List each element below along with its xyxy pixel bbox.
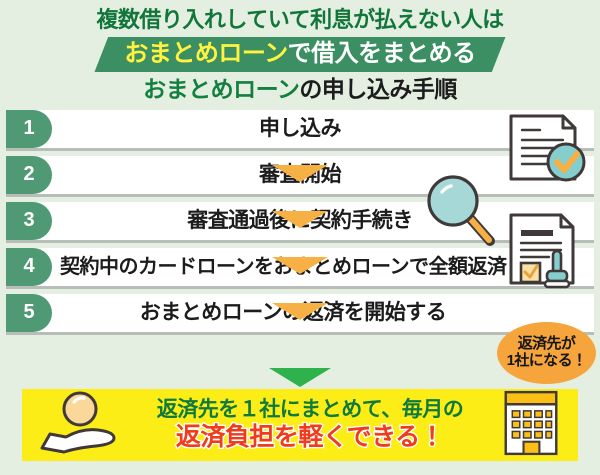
header-line-3-highlight: おまとめローン [143,76,299,102]
banner-text: 返済先を１社にまとめて、毎月の 返済負担を軽くできる！ [122,398,502,452]
step-badge-4: 4 [6,248,52,286]
header-ribbon: おまとめローンで借入をまとめる [94,37,505,73]
arrow-down-icon-5 [269,368,331,387]
summary-banner: 返済先を１社にまとめて、毎月の 返済負担を軽くできる！ [22,389,578,461]
building-icon [502,389,578,462]
header-line-1: 複数借り入れしていて利息が払えない人は [0,6,600,34]
document-check-icon [505,113,587,191]
step-badge-3: 3 [6,202,52,240]
callout-line-2: 1社になる！ [507,353,587,370]
step-badge-2: 2 [6,156,52,194]
callout-badge: 返済先が 1社になる！ [497,322,596,384]
header-line-3-rest: の申し込み手順 [299,76,457,102]
banner-line-1: 返済先を１社にまとめて、毎月の [128,398,492,422]
magnifier-icon [424,172,502,250]
step-badge-1: 1 [6,110,52,148]
ribbon-highlight-text: おまとめローン [124,40,287,67]
header: 複数借り入れしていて利息が払えない人は おまとめローンで借入をまとめる おまとめ… [0,0,600,104]
arrow-down-icon-4 [272,303,328,320]
arrow-down-icon-3 [272,257,328,274]
ribbon-rest-text: で借入をまとめる [288,40,476,67]
document-stamp-icon [505,211,587,291]
callout-line-1: 返済先が [518,336,576,353]
hand-coin-icon [22,390,122,461]
arrow-down-icon-2 [272,211,328,228]
header-line-3: おまとめローンの申し込み手順 [0,76,600,104]
arrow-down-icon-1 [272,165,328,182]
step-badge-5: 5 [6,294,52,332]
header-ribbon-wrap: おまとめローンで借入をまとめる [0,37,600,73]
banner-line-2: 返済負担を軽くできる！ [128,423,492,452]
